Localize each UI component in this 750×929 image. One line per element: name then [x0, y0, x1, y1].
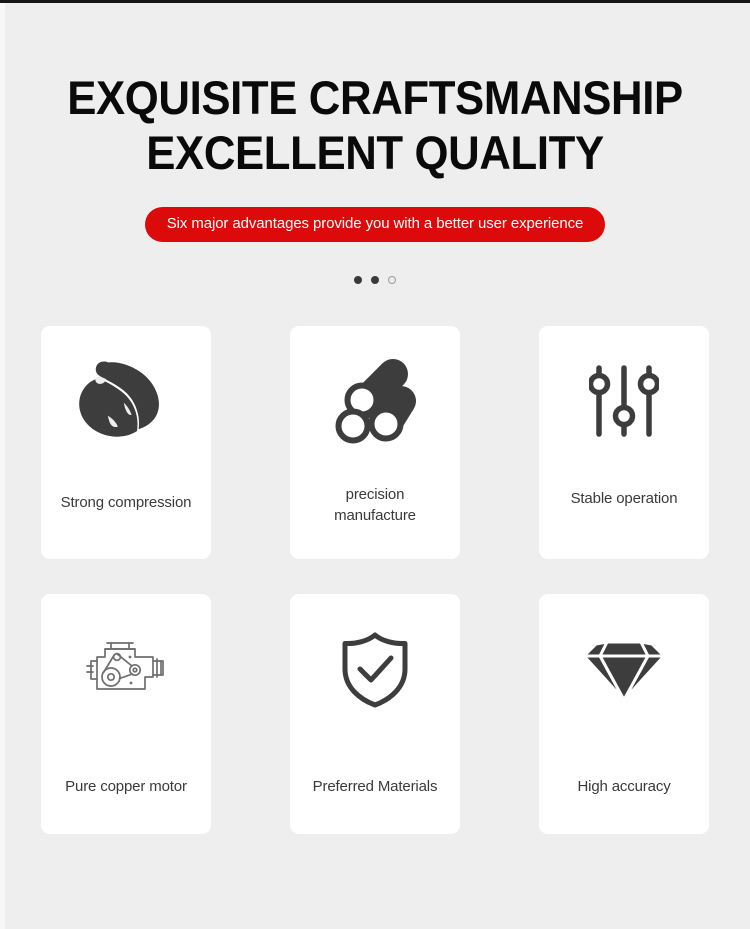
shield-check-icon	[290, 594, 460, 746]
carousel-dot-3[interactable]	[388, 276, 396, 284]
feature-card-preferred-materials[interactable]: Preferred Materials	[290, 594, 460, 834]
flexed-bicep-icon	[41, 326, 211, 476]
subtitle-badge-container: Six major advantages provide you with a …	[0, 207, 750, 242]
feature-card-label: Strong compression	[59, 492, 194, 513]
engine-icon	[41, 594, 211, 746]
page-title-line-2: EXCELLENT QUALITY	[26, 125, 724, 180]
page-title: EXQUISITE CRAFTSMANSHIP EXCELLENT QUALIT…	[26, 70, 724, 180]
three-rings-icon	[290, 326, 460, 476]
feature-card-label: Preferred Materials	[311, 776, 440, 797]
left-edge-strip	[0, 3, 5, 929]
feature-card-precision-manufacture[interactable]: precision manufacture	[290, 326, 460, 559]
promo-banner: EXQUISITE CRAFTSMANSHIP EXCELLENT QUALIT…	[0, 0, 750, 929]
feature-card-stable-operation[interactable]: Stable operation	[539, 326, 709, 559]
top-edge-rule	[0, 0, 750, 3]
feature-card-strong-compression[interactable]: Strong compression	[41, 326, 211, 559]
feature-card-pure-copper-motor[interactable]: Pure copper motor	[41, 594, 211, 834]
carousel-dots[interactable]	[0, 276, 750, 284]
feature-card-label: Pure copper motor	[63, 776, 189, 797]
feature-card-label: High accuracy	[575, 776, 672, 797]
feature-card-high-accuracy[interactable]: High accuracy	[539, 594, 709, 834]
carousel-dot-1[interactable]	[354, 276, 362, 284]
diamond-icon	[539, 594, 709, 746]
feature-card-row-1: Strong compression precision manu	[41, 326, 709, 559]
feature-card-label: Stable operation	[569, 488, 680, 509]
feature-card-row-2: Pure copper motor Preferred Materials	[41, 594, 709, 834]
carousel-dot-2[interactable]	[371, 276, 379, 284]
feature-card-label: precision manufacture	[332, 484, 418, 526]
subtitle-badge: Six major advantages provide you with a …	[145, 207, 606, 242]
page-title-line-1: EXQUISITE CRAFTSMANSHIP	[26, 70, 724, 125]
sliders-icon	[539, 326, 709, 476]
